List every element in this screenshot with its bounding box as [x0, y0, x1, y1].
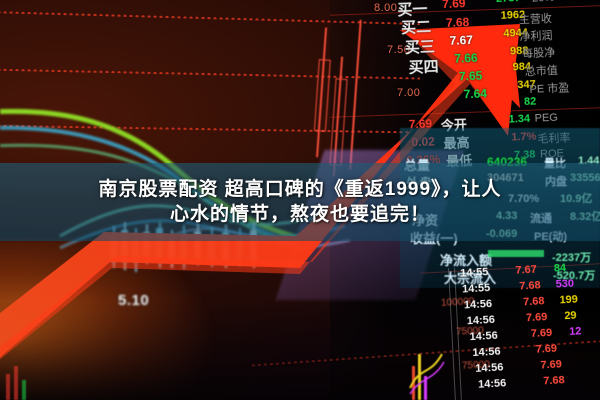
orderbook-price: 7.67 [449, 33, 473, 48]
trade-time: 14:56 [475, 361, 504, 374]
orderbook-price: 7.68 [446, 15, 470, 30]
fundamental-label: 净利润 [519, 27, 553, 44]
trade-price: 7.68 [543, 374, 565, 387]
trade-row: 14:56 7.69 12 [469, 325, 581, 343]
trade-price: 7.67 [515, 264, 537, 277]
trade-ticker-list[interactable]: 14:55 7.67 84 14:55 7.68 530 14:56 7.68 … [452, 260, 600, 400]
article-title-overlay: 南京股票配资 超高口碑的《重返1999》，让人 心水的情节，熬夜也要追完！ [0, 163, 600, 241]
orderbook-price: 7.69 [442, 0, 466, 11]
trade-volume: 199 [559, 293, 578, 306]
trade-time: 14:56 [478, 377, 507, 390]
orderbook-label: 买二 [401, 16, 432, 38]
trade-time: 14:55 [460, 266, 489, 279]
trade-volume: 29 [564, 310, 577, 323]
trade-volume: 84 [554, 262, 567, 275]
volume-histogram-right [408, 336, 468, 400]
orderbook-volume: 82 [524, 96, 537, 108]
fundamental-label: 主营收 [519, 10, 553, 27]
trade-price: 7.68 [519, 279, 541, 292]
trade-time: 14:56 [464, 298, 493, 311]
orderbook-volume: 2737 [496, 0, 521, 5]
trade-row: 14:55 7.68 530 [462, 278, 575, 296]
trade-time: 14:56 [469, 330, 498, 343]
ma-value-label: 5.10 [118, 292, 149, 309]
trade-row: 14:56 7.69 [472, 343, 557, 359]
fundamental-label: 总市值 [525, 62, 559, 79]
orderbook-price: 7.66 [454, 51, 478, 66]
quote-label-2: PEG [534, 112, 558, 125]
article-title-line-1: 南京股票配资 超高口碑的《重返1999》，让人 [98, 177, 501, 202]
article-title-line-2: 心水的情节，熬夜也要追完！ [170, 202, 430, 227]
trade-price: 7.68 [523, 295, 545, 308]
orderbook-label: 买四 [408, 55, 439, 77]
trade-time: 14:56 [472, 346, 501, 359]
fundamental-label: 每股净 [522, 44, 556, 61]
trade-price: 7.69 [526, 311, 548, 324]
trade-row: 14:56 7.69 [475, 358, 562, 375]
trade-price: 7.69 [530, 327, 552, 340]
trade-price: 7.69 [535, 343, 557, 356]
trade-row: 14:56 7.68 199 [464, 293, 579, 311]
trade-row: 14:56 7.68 [478, 374, 565, 391]
fundamental-label: 20% [532, 0, 554, 5]
trade-row: 14:56 7.69 29 [466, 310, 576, 328]
trade-time: 14:56 [466, 314, 495, 327]
trade-volume: 12 [569, 325, 582, 338]
orderbook-price: 7.65 [459, 69, 483, 84]
stock-terminal-screenshot: 8.00 7.50 7.00 5.10 100000 75000 75000 买… [0, 0, 600, 400]
orderbook-label: 买三 [404, 35, 435, 57]
trade-price: 7.69 [540, 358, 562, 371]
trade-volume: 530 [555, 278, 574, 291]
trade-time: 14:55 [462, 282, 491, 295]
quote-value-2: 1.34 [508, 113, 530, 126]
orderbook-price: 7.64 [463, 86, 487, 101]
fundamental-label: PE 市盈 [529, 79, 569, 97]
volume-histogram [0, 330, 120, 400]
inflow-bar [488, 250, 544, 257]
